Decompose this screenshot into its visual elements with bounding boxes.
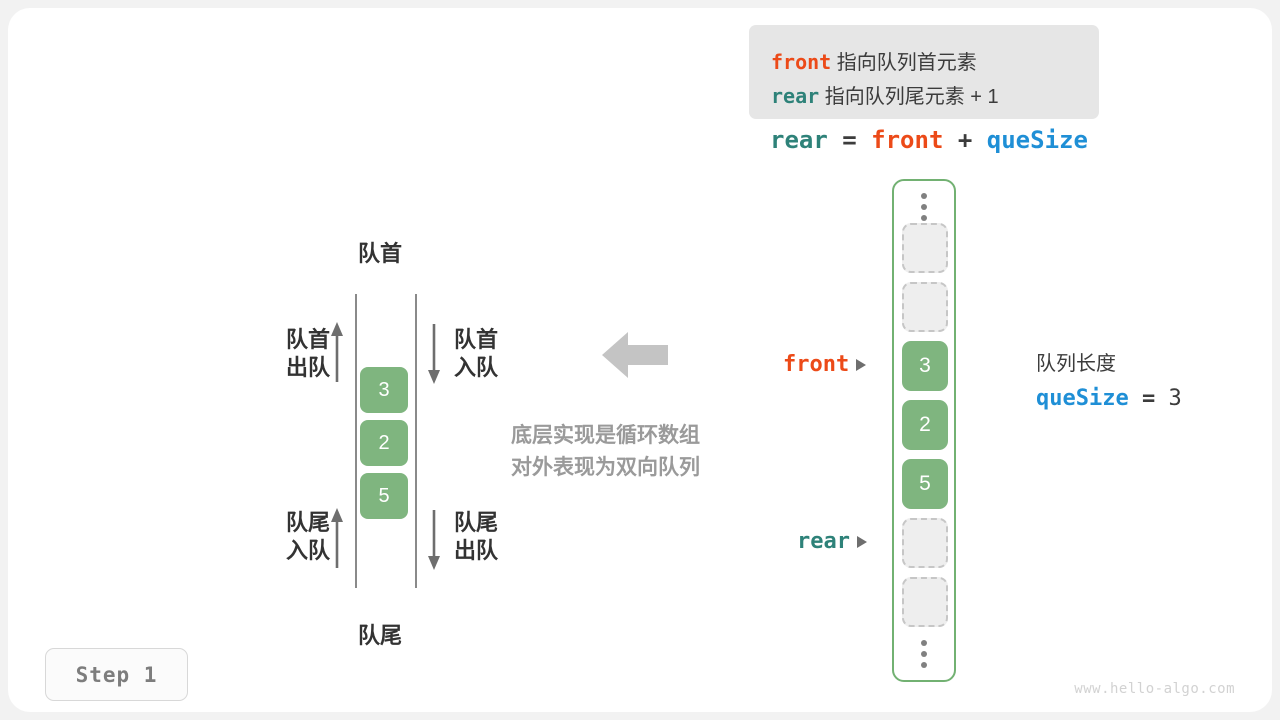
legend-front-text: 指向队列首元素 [837, 52, 977, 74]
arrow-down-rear-dequeue-icon [427, 508, 441, 570]
deque-cell-2: 5 [360, 473, 408, 519]
formula-rear-equals: rear = front + queSize [770, 126, 1088, 154]
arrow-up-rear-enqueue-icon [330, 508, 344, 570]
deque-rail-right [415, 294, 417, 588]
formula-equals: = [842, 126, 856, 154]
label-front-enqueue-line1: 队首 [454, 326, 498, 354]
deque-cell-0: 3 [360, 367, 408, 413]
watermark: www.hello-algo.com [1074, 681, 1235, 697]
array-cell-0 [902, 223, 948, 273]
legend-front-code: front [771, 50, 831, 74]
legend-box: front 指向队列首元素 rear 指向队列尾元素 + 1 [749, 25, 1099, 119]
deque-rail-left [355, 294, 357, 588]
array-cell-4: 5 [902, 459, 948, 509]
array-cell-5 [902, 518, 948, 568]
pointer-rear-label: rear [797, 529, 850, 554]
label-front-dequeue-line1: 队首 [258, 326, 330, 354]
label-front-dequeue: 队首 出队 [258, 326, 330, 382]
pointer-rear: rear [797, 529, 867, 554]
arrow-left-mapping-icon [602, 330, 668, 385]
label-rear-dequeue-line2: 出队 [454, 537, 498, 565]
array-cell-3: 2 [902, 400, 948, 450]
quesize-title: 队列长度 [1036, 347, 1182, 376]
formula-plus: + [958, 126, 972, 154]
deque-cell-1: 2 [360, 420, 408, 466]
legend-line-front: front 指向队列首元素 [771, 46, 977, 75]
quesize-eq: = [1142, 386, 1155, 411]
implementation-note: 底层实现是循环数组 对外表现为双向队列 [511, 420, 700, 483]
pointer-front: front [783, 352, 866, 377]
pointer-front-label: front [783, 352, 849, 377]
quesize-var: queSize [1036, 386, 1129, 411]
implementation-note-line2: 对外表现为双向队列 [511, 452, 700, 484]
figure-card: front 指向队列首元素 rear 指向队列尾元素 + 1 rear = fr… [8, 8, 1272, 712]
legend-rear-text: 指向队列尾元素 + 1 [825, 86, 999, 108]
arrow-down-front-enqueue-icon [427, 322, 441, 384]
array-cell-6 [902, 577, 948, 627]
legend-rear-code: rear [771, 84, 819, 108]
quesize-expression: queSize = 3 [1036, 386, 1182, 411]
label-rear-enqueue-line1: 队尾 [258, 509, 330, 537]
pointer-rear-arrow-icon [857, 536, 867, 548]
label-rear-dequeue: 队尾 出队 [454, 509, 498, 565]
vertical-ellipsis-bottom-icon [921, 640, 927, 668]
vertical-ellipsis-top-icon [921, 193, 927, 221]
label-front-enqueue: 队首 入队 [454, 326, 498, 382]
arrow-up-front-dequeue-icon [330, 322, 344, 384]
formula-rhs-front: front [871, 126, 943, 154]
formula-rhs-quesize: queSize [987, 126, 1088, 154]
formula-lhs: rear [770, 126, 828, 154]
deque-top-caption: 队首 [358, 236, 402, 268]
quesize-annotation: 队列长度 queSize = 3 [1036, 347, 1182, 411]
deque-bottom-caption: 队尾 [358, 618, 402, 650]
step-badge: Step 1 [45, 648, 188, 701]
label-rear-dequeue-line1: 队尾 [454, 509, 498, 537]
pointer-front-arrow-icon [856, 359, 866, 371]
label-front-dequeue-line2: 出队 [258, 354, 330, 382]
label-front-enqueue-line2: 入队 [454, 354, 498, 382]
legend-line-rear: rear 指向队列尾元素 + 1 [771, 80, 999, 109]
array-cell-2: 3 [902, 341, 948, 391]
array-cell-1 [902, 282, 948, 332]
circular-array-container: 3 2 5 [892, 179, 956, 682]
label-rear-enqueue: 队尾 入队 [258, 509, 330, 565]
implementation-note-line1: 底层实现是循环数组 [511, 420, 700, 452]
quesize-value: 3 [1168, 386, 1181, 411]
figure-canvas: front 指向队列首元素 rear 指向队列尾元素 + 1 rear = fr… [0, 0, 1280, 720]
label-rear-enqueue-line2: 入队 [258, 537, 330, 565]
